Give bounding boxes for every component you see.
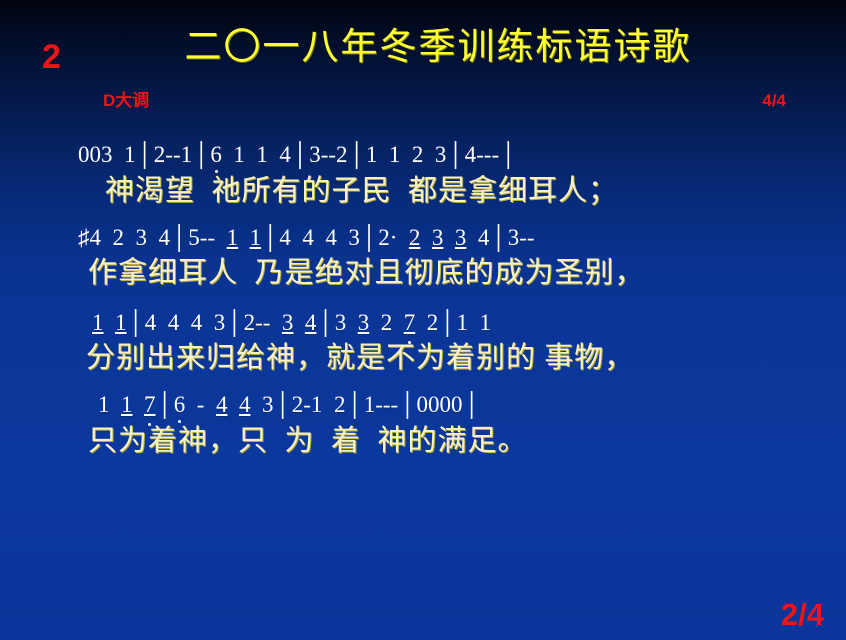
barline: │	[192, 142, 210, 167]
note-token: 2	[409, 225, 421, 250]
note-token: 1	[256, 142, 268, 167]
note-token: 1	[250, 225, 262, 250]
note-token: 2	[334, 392, 346, 417]
note-token: 3	[282, 310, 294, 335]
page-indicator: 2/4	[781, 599, 824, 630]
note-token: 3	[432, 225, 444, 250]
note-token: 7	[404, 310, 416, 335]
lyrics-row: 作拿细耳人 乃是绝对且彻底的成为圣别，	[0, 255, 846, 291]
note-token: 2·	[378, 225, 397, 250]
note-token: 1	[121, 392, 133, 417]
note-token: 4---	[465, 142, 499, 167]
note-token: 2	[427, 310, 439, 335]
barline: │	[170, 225, 188, 250]
note-token: 1---	[364, 392, 398, 417]
note-token: 4	[305, 310, 317, 335]
page-title: 二〇一八年冬季训练标语诗歌	[0, 28, 846, 69]
lyrics-row: 只为着神，只 为 着 神的满足。	[0, 423, 846, 459]
note-token: 3	[455, 225, 467, 250]
note-token: 1	[480, 310, 492, 335]
note-token: 3--2	[309, 142, 347, 167]
note-token: 1	[227, 225, 239, 250]
note-token: ♯4	[78, 225, 101, 250]
note-token: 003	[78, 142, 113, 167]
note-token: 4	[191, 310, 203, 335]
notation-row: ♯4 2 3 4│5-- 1 1│4 4 4 3│2· 2 3 3 4│3--	[0, 221, 846, 256]
note-token: 4	[168, 310, 180, 335]
note-token: 4	[145, 310, 157, 335]
time-signature: 4/4	[762, 92, 786, 109]
barline: │	[398, 392, 416, 417]
notation-row: 003 1│2--1│6 1 1 4│3--2│1 1 2 3│4---│	[0, 138, 846, 173]
note-token: 1	[389, 142, 401, 167]
barline: │	[316, 310, 334, 335]
note-token: 4	[279, 142, 291, 167]
note-token: 2	[381, 310, 393, 335]
note-token: 3	[358, 310, 370, 335]
note-token: 0000	[417, 392, 463, 417]
barline: │	[345, 392, 363, 417]
note-token: 2	[113, 225, 125, 250]
note-token: 3	[262, 392, 274, 417]
note-token: 4	[216, 392, 228, 417]
music-line: 003 1│2--1│6 1 1 4│3--2│1 1 2 3│4---│ 神渴…	[0, 138, 846, 209]
barline: │	[489, 225, 507, 250]
note-token: 2--	[244, 310, 271, 335]
note-token: 2-1	[292, 392, 323, 417]
note-token: 1	[98, 392, 110, 417]
meta-row: D大调 4/4	[0, 92, 846, 116]
note-token: 3	[136, 225, 148, 250]
note-token: 3	[214, 310, 226, 335]
barline: │	[438, 310, 456, 335]
music-line: ♯4 2 3 4│5-- 1 1│4 4 4 3│2· 2 3 3 4│3-- …	[0, 221, 846, 292]
note-token: 4	[159, 225, 171, 250]
note-token: 1	[92, 310, 104, 335]
barline: │	[261, 225, 279, 250]
barline: │	[463, 392, 481, 417]
barline: │	[348, 142, 366, 167]
lyrics-row: 神渴望 祂所有的子民 都是拿细耳人；	[0, 173, 846, 209]
barline: │	[156, 392, 174, 417]
key-signature: D大调	[103, 92, 149, 109]
barline: │	[446, 142, 464, 167]
note-token: 4	[239, 392, 251, 417]
note-token: 4	[478, 225, 490, 250]
note-token: 3	[435, 142, 447, 167]
note-token: 4	[279, 225, 291, 250]
slide-canvas: 2 二〇一八年冬季训练标语诗歌 D大调 4/4 003 1│2--1│6 1 1…	[0, 0, 846, 640]
barline: │	[499, 142, 517, 167]
stanza-body: 003 1│2--1│6 1 1 4│3--2│1 1 2 3│4---│ 神渴…	[0, 138, 846, 463]
note-token: 1	[115, 310, 127, 335]
barline: │	[136, 142, 154, 167]
note-token: 4	[325, 225, 337, 250]
note-token: 2	[412, 142, 424, 167]
note-token: 1	[233, 142, 245, 167]
music-line: 1 1│4 4 4 3│2-- 3 4│3 3 2 7 2│1 1 分别出来归给…	[0, 306, 846, 377]
note-token: 4	[302, 225, 314, 250]
note-token: 6	[210, 142, 222, 167]
barline: │	[225, 310, 243, 335]
note-token: -	[197, 392, 205, 417]
note-token: 1	[457, 310, 469, 335]
lyrics-row: 分别出来归给神，就是不为着别的 事物，	[0, 340, 846, 376]
barline: │	[291, 142, 309, 167]
note-token: 1	[366, 142, 378, 167]
note-token: 6	[174, 392, 186, 417]
notation-row: 1 1 7│6 - 4 4 3│2-1 2│1---│0000│	[0, 388, 846, 423]
note-token: 1	[124, 142, 136, 167]
note-token: 3	[335, 310, 347, 335]
note-token: 7	[144, 392, 156, 417]
note-token: 2--1	[154, 142, 192, 167]
barline: │	[127, 310, 145, 335]
notation-row: 1 1│4 4 4 3│2-- 3 4│3 3 2 7 2│1 1	[0, 306, 846, 341]
note-token: 3--	[508, 225, 535, 250]
barline: │	[360, 225, 378, 250]
note-token: 3	[348, 225, 360, 250]
note-token: 5--	[188, 225, 215, 250]
barline: │	[273, 392, 291, 417]
music-line: 1 1 7│6 - 4 4 3│2-1 2│1---│0000│ 只为着神，只 …	[0, 388, 846, 459]
